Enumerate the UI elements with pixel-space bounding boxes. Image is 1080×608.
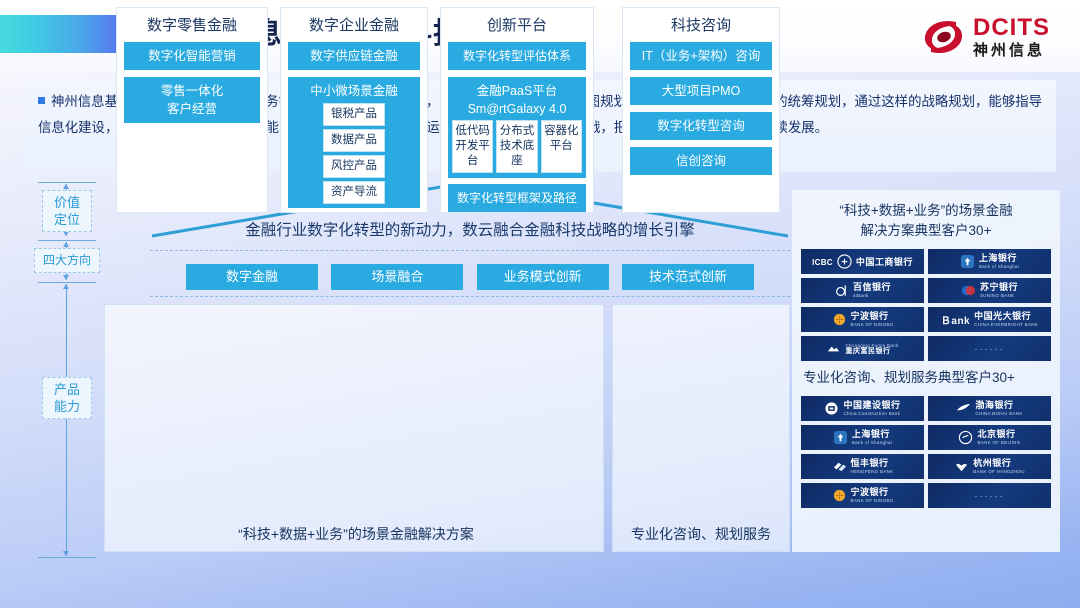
logo-name-en: BANK OF NINGBO bbox=[851, 499, 894, 504]
logo-text: 杭州银行 BANK OF HANGZHOU bbox=[973, 459, 1025, 474]
product-panel bbox=[104, 304, 604, 552]
logo-cell-bank-of-shanghai-2[interactable]: 上海银行 Bank of Shanghai bbox=[801, 425, 924, 450]
logo-name: 百信银行 bbox=[853, 283, 891, 292]
item-label: 中小微场景金融 bbox=[290, 82, 418, 100]
item-label: 金融PaaS平台 Sm@rtGalaxy 4.0 bbox=[450, 82, 584, 118]
logo-cell-more-1[interactable]: ······ bbox=[928, 336, 1051, 361]
item-digital-supply-chain-finance[interactable]: 数字供应链金融 bbox=[288, 42, 420, 70]
logo-name: 恒丰银行 bbox=[851, 459, 889, 468]
ningbo-bank-icon bbox=[832, 488, 847, 503]
logo-text: Chongqing Fumin Bank 重庆富民银行 bbox=[845, 342, 898, 355]
paas-chip-lowcode[interactable]: 低代码 开发平 台 bbox=[452, 120, 493, 173]
logo-text: 恒丰银行 HENGFENG BANK bbox=[851, 459, 894, 474]
ellipsis-icon: ······ bbox=[975, 491, 1005, 501]
logo-cell-ningbo-bank-2[interactable]: 宁波银行 BANK OF NINGBO bbox=[801, 483, 924, 508]
logo-text: 中国光大银行 CHINA EVERBRIGHT BANK bbox=[974, 312, 1038, 327]
logo-cell-bohai-bank[interactable]: 渤海银行 CHINA BOHAI BANK bbox=[928, 396, 1051, 421]
logo-name: 苏宁银行 bbox=[980, 283, 1018, 292]
axis-label-value-positioning: 价值定位 bbox=[42, 190, 92, 232]
logo-text: 宁波银行 BANK OF NINGBO bbox=[851, 312, 894, 327]
dcits-logo-text: DCITS 神州信息 bbox=[973, 16, 1050, 58]
axis-arrow-product bbox=[66, 284, 67, 556]
logo-cell-beijing-bank[interactable]: 北京银行 BANK OF BEIJING bbox=[928, 425, 1051, 450]
logo-cell-ningbo-bank[interactable]: 宁波银行 BANK OF NINGBO bbox=[801, 307, 924, 332]
item-digital-transform-assessment[interactable]: 数字化转型评估体系 bbox=[448, 42, 586, 70]
subchip-risk-product[interactable]: 风控产品 bbox=[323, 155, 385, 178]
item-retail-integrated-customer-ops[interactable]: 零售一体化 客户经营 bbox=[124, 77, 260, 123]
logo-text: 苏宁银行 SUNING BANK bbox=[980, 283, 1018, 298]
logo-cell-more-2[interactable]: ······ bbox=[928, 483, 1051, 508]
axis-column: 价值定位 四大方向 产品能力 bbox=[34, 182, 100, 558]
bullet-icon bbox=[38, 97, 45, 104]
logo-cell-hangzhou-bank[interactable]: 杭州银行 BANK OF HANGZHOU bbox=[928, 454, 1051, 479]
paas-chip-row: 低代码 开发平 台 分布式 技术底 座 容器化 平台 bbox=[450, 118, 584, 176]
logo-name-en: BANK OF NINGBO bbox=[851, 323, 894, 328]
logo-grid-section2: 中国建设银行 China Construction Bank 渤海银行 CHIN… bbox=[801, 396, 1051, 508]
divider-bottom bbox=[150, 296, 790, 297]
paas-chip-container-platform[interactable]: 容器化 平台 bbox=[541, 120, 582, 173]
logo-name-en: BANK OF HANGZHOU bbox=[973, 470, 1025, 475]
axis-label-line: 能力 bbox=[45, 398, 89, 415]
item-digital-transform-consulting[interactable]: 数字化转型咨询 bbox=[630, 112, 772, 140]
logo-cell-bank-of-shanghai[interactable]: 上海银行 Bank of Shanghai bbox=[928, 249, 1051, 274]
logo-name: 中国建设银行 bbox=[843, 401, 900, 410]
column-title: 数字企业金融 bbox=[288, 14, 420, 35]
fumin-bank-icon bbox=[826, 341, 841, 356]
tagline: 金融行业数字化转型的新动力，数云融合金融科技战略的增长引擎 bbox=[150, 218, 790, 240]
section1-heading: “科技+数据+业务”的场景金融 解决方案典型客户30+ bbox=[801, 198, 1051, 249]
dcits-logo-en: DCITS bbox=[973, 16, 1050, 40]
logo-name-en: BANK OF BEIJING bbox=[977, 441, 1020, 446]
ccb-icon bbox=[824, 401, 839, 416]
logo-cell-aibank[interactable]: 百信银行 aiBank bbox=[801, 278, 924, 303]
axis-label-line: 价值 bbox=[45, 194, 89, 211]
column-title: 数字零售金融 bbox=[124, 14, 260, 35]
logo-name-en: aiBank bbox=[853, 294, 869, 299]
everbright-bank-icon: Ｂank bbox=[941, 312, 970, 327]
icbc-seal-icon bbox=[837, 254, 852, 269]
logo-name: 上海银行 bbox=[979, 254, 1017, 263]
shanghai-bank-icon bbox=[833, 430, 848, 445]
ellipsis-icon: ······ bbox=[975, 344, 1005, 354]
item-xinchuang-consulting[interactable]: 信创咨询 bbox=[630, 147, 772, 175]
column-title: 科技咨询 bbox=[630, 14, 772, 35]
logo-text: 百信银行 aiBank bbox=[853, 283, 891, 298]
logo-name: 中国工商银行 bbox=[856, 255, 913, 268]
divider-top bbox=[150, 250, 790, 251]
item-it-consulting[interactable]: IT（业务+架构）咨询 bbox=[630, 42, 772, 70]
logo-name-en: CHINA BOHAI BANK bbox=[975, 412, 1022, 417]
logo-cell-icbc[interactable]: ICBC 中国工商银行 bbox=[801, 249, 924, 274]
axis-label-line: 定位 bbox=[45, 211, 89, 228]
axis-label-product-capability: 产品能力 bbox=[42, 377, 92, 419]
logo-name-en: Bank of Shanghai bbox=[979, 265, 1019, 270]
paas-chip-distributed-base[interactable]: 分布式 技术底 座 bbox=[496, 120, 537, 173]
section2-heading: 专业化咨询、规划服务典型客户30+ bbox=[801, 361, 1051, 396]
icbc-icon: ICBC bbox=[812, 258, 833, 267]
caption-scenario-finance-solution: “科技+数据+业务”的场景金融解决方案 bbox=[116, 524, 596, 544]
logo-cell-ccb[interactable]: 中国建设银行 China Construction Bank bbox=[801, 396, 924, 421]
sme-subchip-grid: 银税产品 数据产品 风控产品 资产导流 bbox=[290, 100, 418, 206]
item-sme-scenario-finance[interactable]: 中小微场景金融 银税产品 数据产品 风控产品 资产导流 bbox=[288, 77, 420, 208]
shanghai-bank-icon bbox=[960, 254, 975, 269]
customer-logos-panel: “科技+数据+业务”的场景金融 解决方案典型客户30+ ICBC 中国工商银行 … bbox=[792, 190, 1060, 552]
subchip-data-product[interactable]: 数据产品 bbox=[323, 129, 385, 152]
hengfeng-bank-icon bbox=[832, 459, 847, 474]
logo-text: 中国建设银行 China Construction Bank bbox=[843, 401, 900, 416]
column-title: 创新平台 bbox=[448, 14, 586, 35]
logo-name-en: SUNING BANK bbox=[980, 294, 1014, 299]
logo-text: 上海银行 Bank of Shanghai bbox=[852, 430, 892, 445]
bohai-bank-icon bbox=[956, 401, 971, 416]
axis-label-line: 产品 bbox=[45, 381, 89, 398]
item-digital-transform-framework[interactable]: 数字化转型框架及路径 bbox=[448, 184, 586, 212]
item-financial-paas-platform[interactable]: 金融PaaS平台 Sm@rtGalaxy 4.0 低代码 开发平 台 分布式 技… bbox=[448, 77, 586, 178]
beijing-bank-icon bbox=[958, 430, 973, 445]
logo-cell-fumin-bank[interactable]: Chongqing Fumin Bank 重庆富民银行 bbox=[801, 336, 924, 361]
logo-name: 渤海银行 bbox=[975, 401, 1013, 410]
logo-name-en: HENGFENG BANK bbox=[851, 470, 894, 475]
logo-name: 北京银行 bbox=[977, 430, 1015, 439]
logo-name-en: CHINA EVERBRIGHT BANK bbox=[974, 323, 1038, 328]
logo-name-en: China Construction Bank bbox=[843, 412, 900, 417]
dcits-logo: DCITS 神州信息 bbox=[922, 14, 1050, 60]
column-digital-retail-finance: 数字零售金融 数字化智能营销 零售一体化 客户经营 bbox=[116, 7, 268, 213]
consulting-panel bbox=[612, 304, 790, 552]
direction-pill-digital-finance[interactable]: 数字金融 bbox=[186, 264, 318, 290]
item-digital-smart-marketing[interactable]: 数字化智能营销 bbox=[124, 42, 260, 70]
subchip-asset-flow[interactable]: 资产导流 bbox=[323, 181, 385, 204]
ningbo-bank-icon bbox=[832, 312, 847, 327]
suning-bank-icon bbox=[961, 283, 976, 298]
logo-name: 杭州银行 bbox=[973, 459, 1011, 468]
logo-name-en: Bank of Shanghai bbox=[852, 441, 892, 446]
subchip-tax-product[interactable]: 银税产品 bbox=[323, 103, 385, 126]
logo-text: 宁波银行 BANK OF NINGBO bbox=[851, 488, 894, 503]
column-tech-consulting: 科技咨询 IT（业务+架构）咨询 大型项目PMO 数字化转型咨询 信创咨询 bbox=[622, 7, 780, 213]
item-large-project-pmo[interactable]: 大型项目PMO bbox=[630, 77, 772, 105]
logo-name: 上海银行 bbox=[852, 430, 890, 439]
logo-name: 宁波银行 bbox=[851, 488, 889, 497]
logo-name: 重庆富民银行 bbox=[845, 348, 890, 355]
logo-grid-section1: ICBC 中国工商银行 上海银行 Bank of Shanghai 百信银行 a… bbox=[801, 249, 1051, 361]
logo-cell-suning-bank[interactable]: 苏宁银行 SUNING BANK bbox=[928, 278, 1051, 303]
axis-label-four-directions: 四大方向 bbox=[34, 248, 100, 273]
logo-text: 上海银行 Bank of Shanghai bbox=[979, 254, 1019, 269]
dcits-logo-cn: 神州信息 bbox=[973, 43, 1050, 58]
logo-name: 中国光大银行 bbox=[974, 312, 1031, 321]
logo-text: 北京银行 BANK OF BEIJING bbox=[977, 430, 1020, 445]
aibank-icon bbox=[834, 283, 849, 298]
direction-pill-row: 数字金融 场景融合 业务模式创新 技术范式创新 bbox=[186, 264, 754, 290]
caption-consulting-service: 专业化咨询、规划服务 bbox=[612, 524, 790, 544]
logo-cell-everbright-bank[interactable]: Ｂank 中国光大银行 CHINA EVERBRIGHT BANK bbox=[928, 307, 1051, 332]
direction-pill-business-model[interactable]: 业务模式创新 bbox=[477, 264, 609, 290]
logo-name: 宁波银行 bbox=[851, 312, 889, 321]
hangzhou-bank-icon bbox=[954, 459, 969, 474]
direction-pill-tech-paradigm[interactable]: 技术范式创新 bbox=[622, 264, 754, 290]
direction-pill-scenario-fusion[interactable]: 场景融合 bbox=[331, 264, 463, 290]
logo-cell-hengfeng-bank[interactable]: 恒丰银行 HENGFENG BANK bbox=[801, 454, 924, 479]
dcits-swoosh-icon bbox=[922, 16, 966, 58]
column-digital-enterprise-finance: 数字企业金融 数字供应链金融 中小微场景金融 银税产品 数据产品 风控产品 资产… bbox=[280, 7, 428, 213]
logo-text: 渤海银行 CHINA BOHAI BANK bbox=[975, 401, 1022, 416]
column-innovation-platform: 创新平台 数字化转型评估体系 金融PaaS平台 Sm@rtGalaxy 4.0 … bbox=[440, 7, 594, 213]
